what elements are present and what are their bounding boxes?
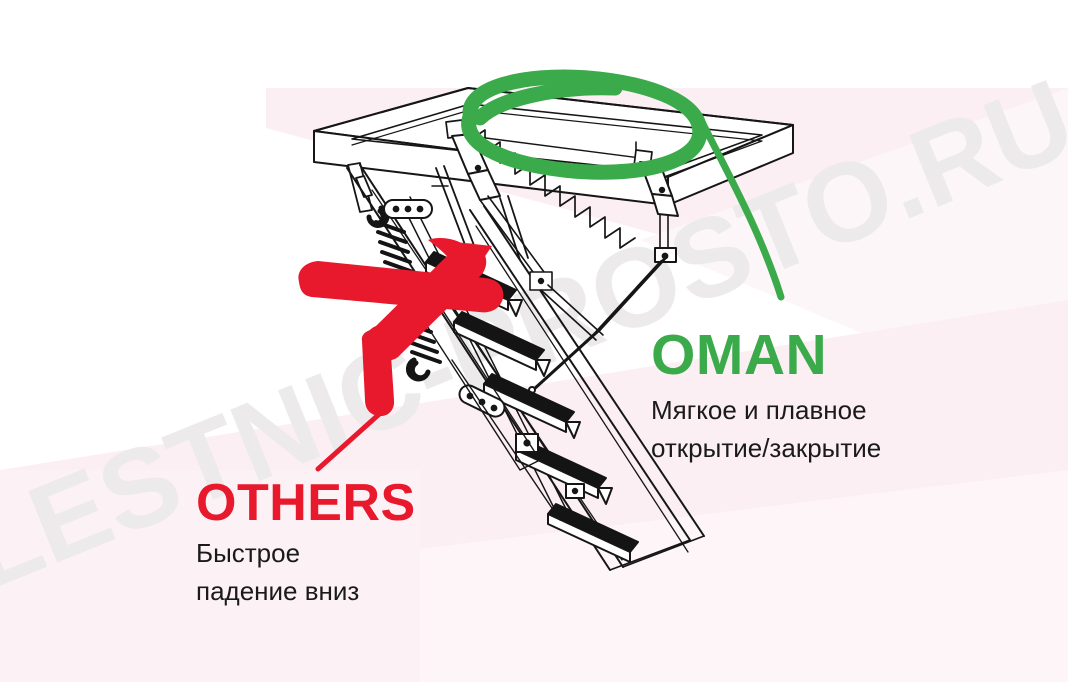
annotation-layer	[0, 0, 1068, 682]
others-caption-line-2: падение вниз	[196, 573, 416, 611]
others-brand-label: OTHERS	[196, 477, 416, 529]
illustration-canvas: LESTNIC-PROSTO.RU	[0, 0, 1068, 682]
green-ellipse-circle	[465, 66, 704, 184]
others-annotation-block: OTHERS Быстрое падение вниз	[196, 477, 416, 610]
red-leader-line	[318, 408, 386, 469]
others-caption-line-1: Быстрое	[196, 535, 416, 573]
green-leader-line	[700, 118, 781, 297]
oman-brand-label: OMAN	[651, 327, 881, 384]
oman-caption-line-2: открытие/закрытие	[651, 430, 881, 468]
oman-caption-line-1: Мягкое и плавное	[651, 392, 881, 430]
oman-annotation-block: OMAN Мягкое и плавное открытие/закрытие	[651, 327, 881, 467]
red-cross-x-mark	[298, 238, 503, 416]
